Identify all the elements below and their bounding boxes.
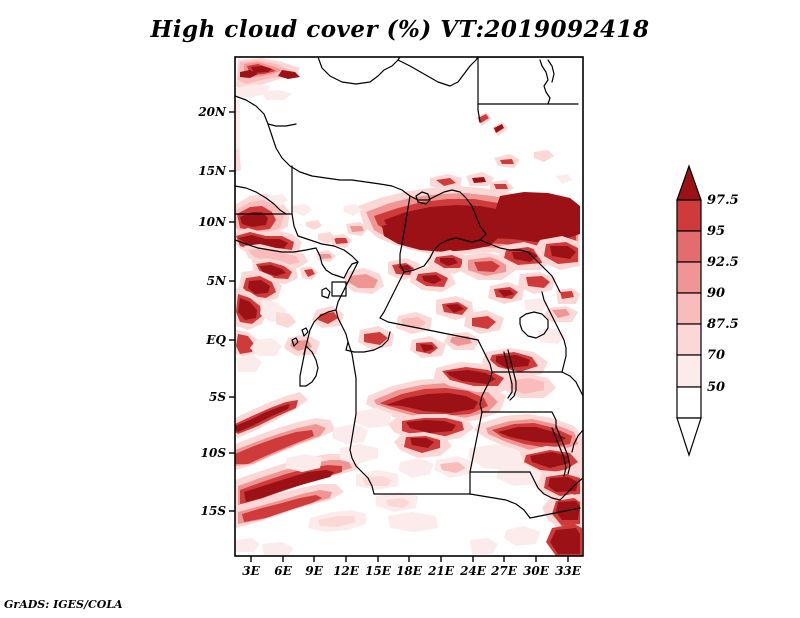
grads-credit: GrADS: IGES/COLA [4, 598, 123, 611]
ytick-label-5S: 5S [186, 390, 226, 404]
ytick-label-15S: 15S [186, 504, 226, 518]
cloud-cover-field [235, 57, 583, 556]
ytick-label-15N: 15N [186, 164, 226, 178]
colorbar-label-92-5: 92.5 [707, 255, 739, 270]
colorbar-label-50: 50 [707, 380, 725, 395]
colorbar-label-70: 70 [707, 348, 725, 363]
ytick-label-20N: 20N [186, 105, 226, 119]
ytick-label-10S: 10S [186, 446, 226, 460]
colorbar-label-90: 90 [707, 286, 725, 301]
colorbar-label-95: 95 [707, 224, 725, 239]
colorbar[interactable] [677, 166, 701, 455]
xtick-label-33E: 33E [548, 564, 588, 578]
ytick-label-EQ: EQ [186, 333, 226, 347]
map-canvas [0, 0, 800, 618]
colorbar-label-97-5: 97.5 [707, 193, 739, 208]
colorbar-label-87-5: 87.5 [707, 317, 739, 332]
grads-figure: High cloud cover (%) VT:2019092418 [0, 0, 800, 618]
ytick-label-5N: 5N [186, 274, 226, 288]
ytick-label-10N: 10N [186, 215, 226, 229]
